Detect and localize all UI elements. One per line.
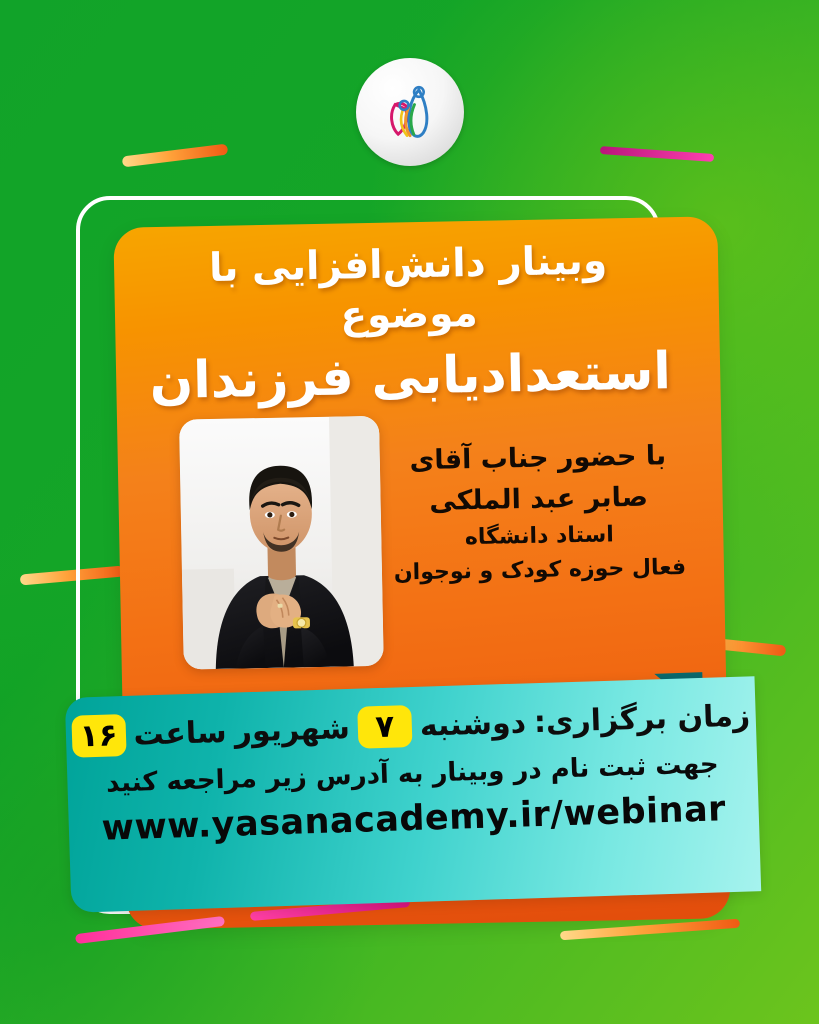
decorative-dash-top-left bbox=[122, 144, 229, 168]
speaker-details: با حضور جناب آقای صابر عبد الملکی استاد … bbox=[387, 435, 690, 590]
speaker-intro: با حضور جناب آقای bbox=[387, 435, 688, 482]
title-block: وبینار دانش‌افزایی با موضوع استعدادیابی … bbox=[138, 235, 681, 414]
schedule-hour-label: ساعت bbox=[133, 714, 227, 752]
schedule-prefix: زمان برگزاری: bbox=[533, 698, 750, 740]
webinar-poster: وبینار دانش‌افزایی با موضوع استعدادیابی … bbox=[0, 0, 819, 1024]
schedule-day-badge: ۷ bbox=[357, 705, 412, 749]
academy-emblem-icon bbox=[373, 75, 447, 149]
decorative-dash-top-right bbox=[600, 146, 714, 162]
registration-url[interactable]: www.yasanacademy.ir/webinar bbox=[68, 788, 759, 850]
schedule-hour-badge: ۱۶ bbox=[71, 714, 126, 758]
ribbon-content: زمان برگزاری: دوشنبه ۷ شهریور ساعت ۱۶ جه… bbox=[65, 676, 761, 913]
ribbon-panel: زمان برگزاری: دوشنبه ۷ شهریور ساعت ۱۶ جه… bbox=[65, 676, 761, 913]
speaker-role-2: فعال حوزه کودک و نوجوان bbox=[390, 550, 691, 589]
schedule-weekday: دوشنبه bbox=[419, 705, 526, 743]
info-ribbon: زمان برگزاری: دوشنبه ۷ شهریور ساعت ۱۶ جه… bbox=[0, 655, 819, 935]
speaker-photo bbox=[179, 416, 384, 670]
speaker-name: صابر عبد الملکی bbox=[388, 476, 689, 523]
schedule-row: زمان برگزاری: دوشنبه ۷ شهریور ساعت ۱۶ bbox=[65, 694, 756, 758]
speaker-portrait-illustration bbox=[179, 416, 384, 670]
title-line-2: استعدادیابی فرزندان bbox=[140, 339, 681, 415]
title-line-1: وبینار دانش‌افزایی با موضوع bbox=[138, 235, 680, 345]
schedule-month: شهریور bbox=[234, 710, 350, 749]
brand-logo bbox=[356, 58, 464, 166]
